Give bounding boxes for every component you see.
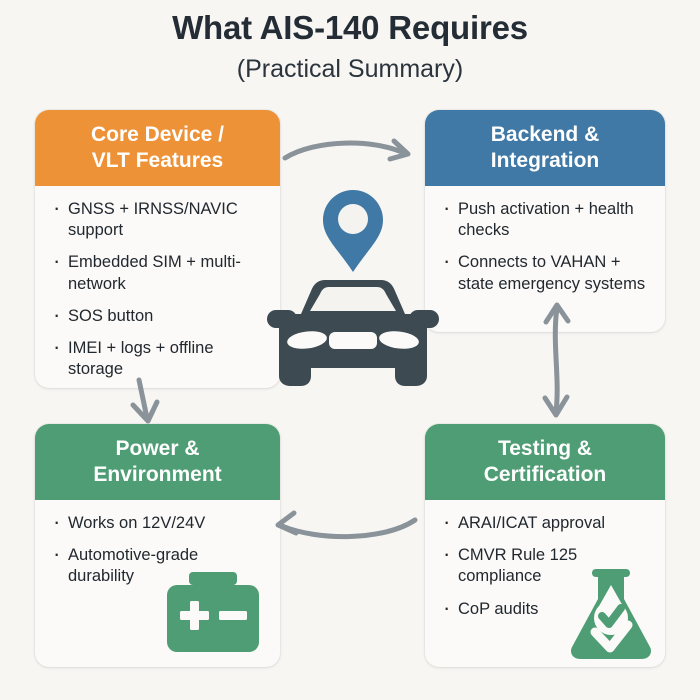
list-item: Connects to VAHAN + state emergency syst… xyxy=(441,252,651,294)
card-core-device-title-line1: Core Device / xyxy=(91,123,224,146)
arrow-backend-to-testing-icon xyxy=(534,300,580,420)
card-backend-integration-title-line1: Backend & xyxy=(491,123,600,146)
card-backend-integration-body: Push activation + health checks Connects… xyxy=(425,186,665,306)
arrow-core-to-backend-icon xyxy=(282,136,417,176)
card-core-device-body: GNSS + IRNSS/NAVIC support Embedded SIM … xyxy=(35,186,280,388)
list-item: Works on 12V/24V xyxy=(51,513,266,534)
page-subtitle: (Practical Summary) xyxy=(0,54,700,85)
flask-check-icon xyxy=(568,563,654,663)
center-illustration xyxy=(265,190,440,405)
battery-icon xyxy=(163,572,263,654)
card-testing-certification-title-line2: Certification xyxy=(484,463,607,486)
card-power-environment-title-line2: Environment xyxy=(93,463,221,486)
infographic-canvas: What AIS-140 Requires (Practical Summary… xyxy=(0,0,700,700)
list-item: IMEI + logs + offline storage xyxy=(51,338,266,380)
list-item: Embedded SIM + multi-network xyxy=(51,252,266,294)
card-backend-integration-list: Push activation + health checks Connects… xyxy=(441,199,651,294)
list-item: GNSS + IRNSS/NAVIC support xyxy=(51,199,266,241)
card-core-device-header: Core Device / VLT Features xyxy=(35,110,280,186)
page-title-block: What AIS-140 Requires (Practical Summary… xyxy=(0,8,700,85)
list-item: ARAI/ICAT approval xyxy=(441,513,651,534)
card-core-device[interactable]: Core Device / VLT Features GNSS + IRNSS/… xyxy=(35,110,280,388)
card-testing-certification-header: Testing & Certification xyxy=(425,424,665,500)
card-power-environment-title-line1: Power & xyxy=(115,437,199,460)
card-backend-integration[interactable]: Backend & Integration Push activation + … xyxy=(425,110,665,332)
car-front-icon xyxy=(267,280,439,386)
list-item: Push activation + health checks xyxy=(441,199,651,241)
list-item: SOS button xyxy=(51,306,266,327)
card-backend-integration-title-line2: Integration xyxy=(491,149,600,172)
card-backend-integration-header: Backend & Integration xyxy=(425,110,665,186)
card-testing-certification-title-line1: Testing & xyxy=(498,437,592,460)
arrow-testing-to-power-icon xyxy=(268,508,418,550)
card-core-device-list: GNSS + IRNSS/NAVIC support Embedded SIM … xyxy=(51,199,266,380)
arrow-core-to-power-icon xyxy=(125,378,170,424)
location-pin-icon xyxy=(323,190,383,272)
card-power-environment-header: Power & Environment xyxy=(35,424,280,500)
card-core-device-title-line2: VLT Features xyxy=(92,149,223,172)
page-title: What AIS-140 Requires xyxy=(0,8,700,48)
